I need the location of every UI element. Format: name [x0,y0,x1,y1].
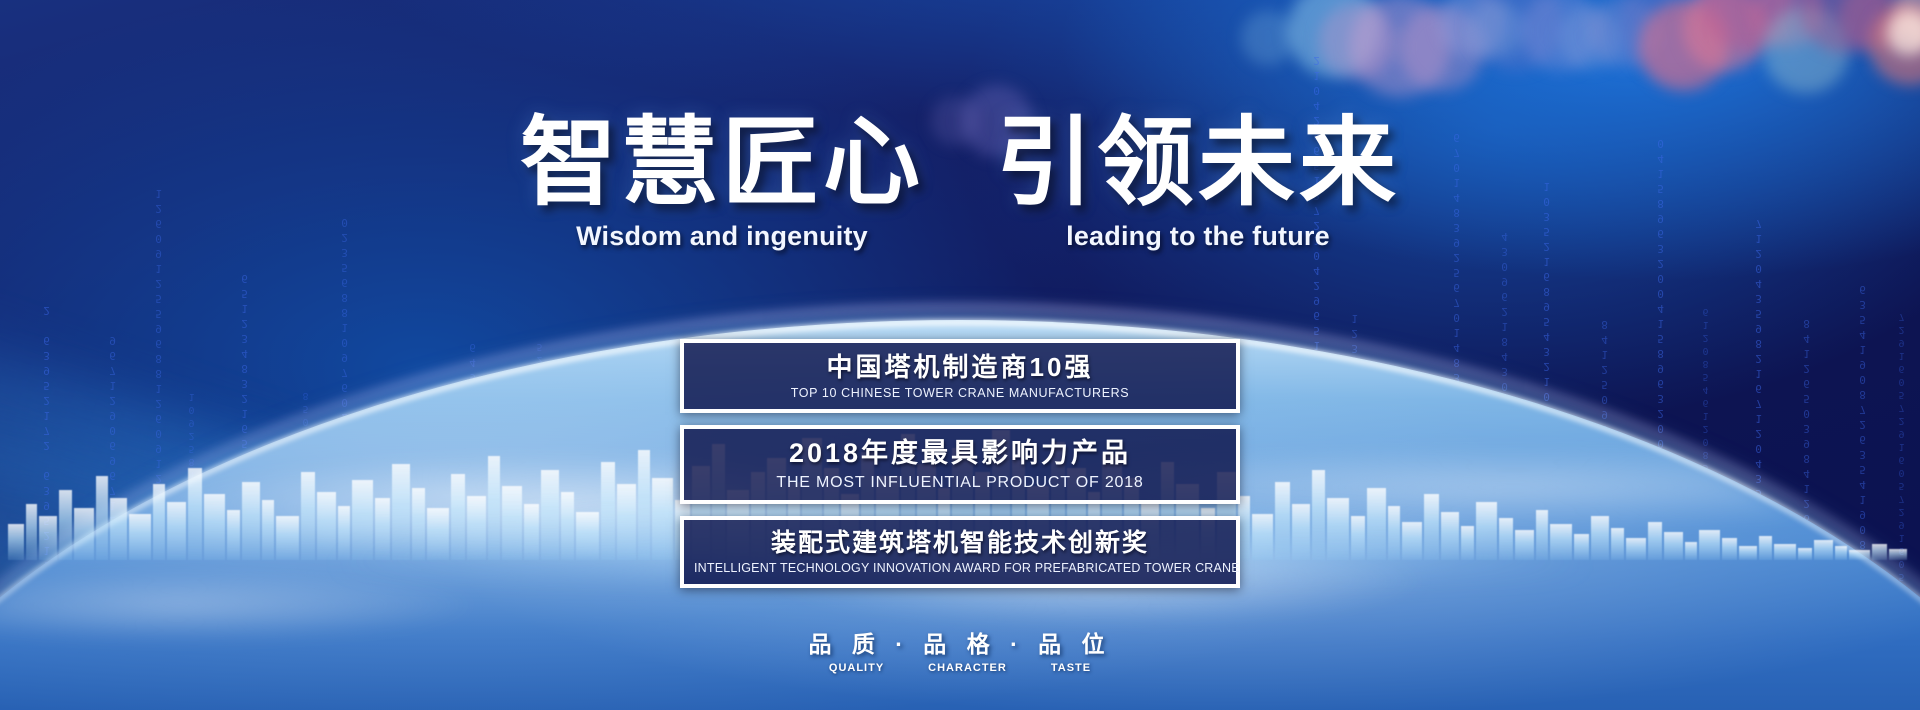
tagline-group: 品 质 · 品 格 · 品 位 QUALITY CHARACTER TASTE [750,625,1170,674]
award-box-1: 中国塔机制造商10强 TOP 10 CHINESE TOWER CRANE MA… [680,339,1240,413]
headline-right: 引领未来 leading to the future [996,112,1400,252]
headline-chinese-left: 智慧匠心 [520,112,924,215]
headline-left: 智慧匠心 Wisdom and ingenuity [520,112,924,252]
tagline-english: QUALITY CHARACTER TASTE [750,662,1170,674]
tagline-word-taste: TASTE [1051,662,1091,674]
headline-chinese-right: 引领未来 [996,112,1400,215]
award-title-english: INTELLIGENT TECHNOLOGY INNOVATION AWARD … [694,561,1226,576]
banner-content: 智慧匠心 Wisdom and ingenuity 引领未来 leading t… [0,0,1920,710]
award-title-chinese: 中国塔机制造商10强 [694,352,1226,383]
award-box-3: 装配式建筑塔机智能技术创新奖 INTELLIGENT TECHNOLOGY IN… [680,516,1240,589]
award-title-chinese: 装配式建筑塔机智能技术创新奖 [694,529,1226,559]
award-box-2: 2018年度最具影响力产品 THE MOST INFLUENTIAL PRODU… [680,425,1240,504]
award-title-chinese: 2018年度最具影响力产品 [694,438,1226,470]
headline-english-left: Wisdom and ingenuity [520,221,924,252]
headline-group: 智慧匠心 Wisdom and ingenuity 引领未来 leading t… [0,112,1920,252]
headline-english-right: leading to the future [996,221,1400,252]
award-list: 中国塔机制造商10强 TOP 10 CHINESE TOWER CRANE MA… [680,339,1240,588]
tagline-word-quality: QUALITY [829,662,884,674]
tagline-chinese: 品 质 · 品 格 · 品 位 [750,625,1170,659]
banner-root: 7125936 27125936 26092176960921769886955… [0,0,1920,710]
award-title-english: THE MOST INFLUENTIAL PRODUCT OF 2018 [694,473,1226,492]
award-title-english: TOP 10 CHINESE TOWER CRANE MANUFACTURERS [694,386,1226,401]
tagline-word-character: CHARACTER [928,662,1007,674]
